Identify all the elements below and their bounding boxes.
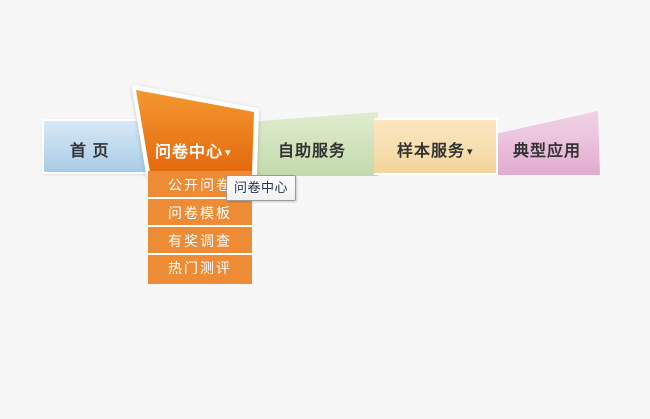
nav-tab-sample-service[interactable] (374, 118, 498, 175)
nav-tab-survey-center[interactable] (126, 85, 260, 177)
nav-tab-self-service[interactable] (248, 112, 378, 176)
tooltip-survey-center: 问卷中心 (226, 175, 296, 201)
survey-center-tab-shape (126, 85, 260, 177)
nav-tab-typical-application[interactable] (490, 105, 606, 177)
dropdown-item-survey-template[interactable]: 问卷模板 (148, 199, 252, 227)
self-service-tab-shape (248, 112, 378, 176)
site-navigation-bar: 首 页 自助服务 样本服务▾ (0, 0, 650, 419)
dropdown-item-hot-assessment[interactable]: 热门测评 (148, 255, 252, 284)
typical-application-tab-shape (490, 105, 606, 177)
dropdown-item-prize-survey[interactable]: 有奖调查 (148, 227, 252, 255)
